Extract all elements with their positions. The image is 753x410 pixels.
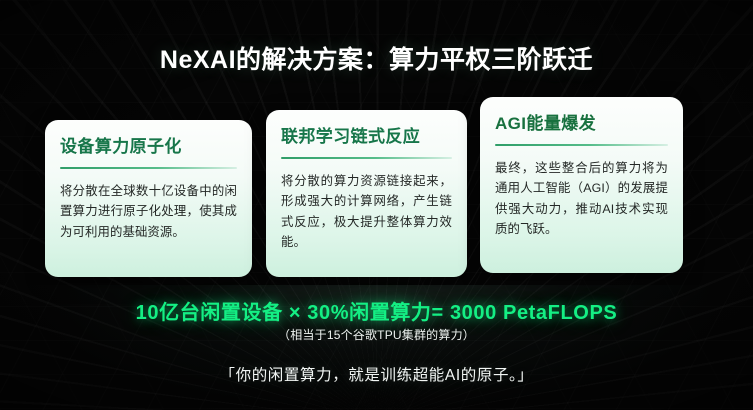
card-device-atomization: 设备算力原子化 将分散在全球数十亿设备中的闲置算力进行原子化处理，使其成为可利用… <box>45 120 252 277</box>
card-heading: 联邦学习链式反应 <box>281 127 452 147</box>
formula-equation: 10亿台闲置设备 × 30%闲置算力= 3000 PetaFLOPS <box>0 296 753 325</box>
card-heading: AGI能量爆发 <box>495 114 668 134</box>
card-body-text: 最终，这些整合后的算力将为通用人工智能（AGI）的发展提供强大动力，推动AI技术… <box>495 158 668 238</box>
slide-title: NeXAI的解决方案：算力平权三阶跃迁 <box>0 40 753 76</box>
card-divider <box>60 167 237 169</box>
closing-quote: 「你的闲置算力，就是训练超能AI的原子。」 <box>0 363 753 385</box>
card-body-text: 将分散的算力资源链接起来，形成强大的计算网络，产生链式反应，极大提升整体算力效能… <box>281 171 452 251</box>
card-body-text: 将分散在全球数十亿设备中的闲置算力进行原子化处理，使其成为可利用的基础资源。 <box>60 181 237 241</box>
card-agi-energy-burst: AGI能量爆发 最终，这些整合后的算力将为通用人工智能（AGI）的发展提供强大动… <box>480 97 683 273</box>
card-federated-learning: 联邦学习链式反应 将分散的算力资源链接起来，形成强大的计算网络，产生链式反应，极… <box>266 110 467 277</box>
card-divider <box>281 157 452 159</box>
presentation-slide: NeXAI的解决方案：算力平权三阶跃迁 设备算力原子化 将分散在全球数十亿设备中… <box>0 0 753 410</box>
card-divider <box>495 144 668 146</box>
card-heading: 设备算力原子化 <box>60 137 237 157</box>
formula-note: （相当于15个谷歌TPU集群的算力） <box>0 326 753 343</box>
